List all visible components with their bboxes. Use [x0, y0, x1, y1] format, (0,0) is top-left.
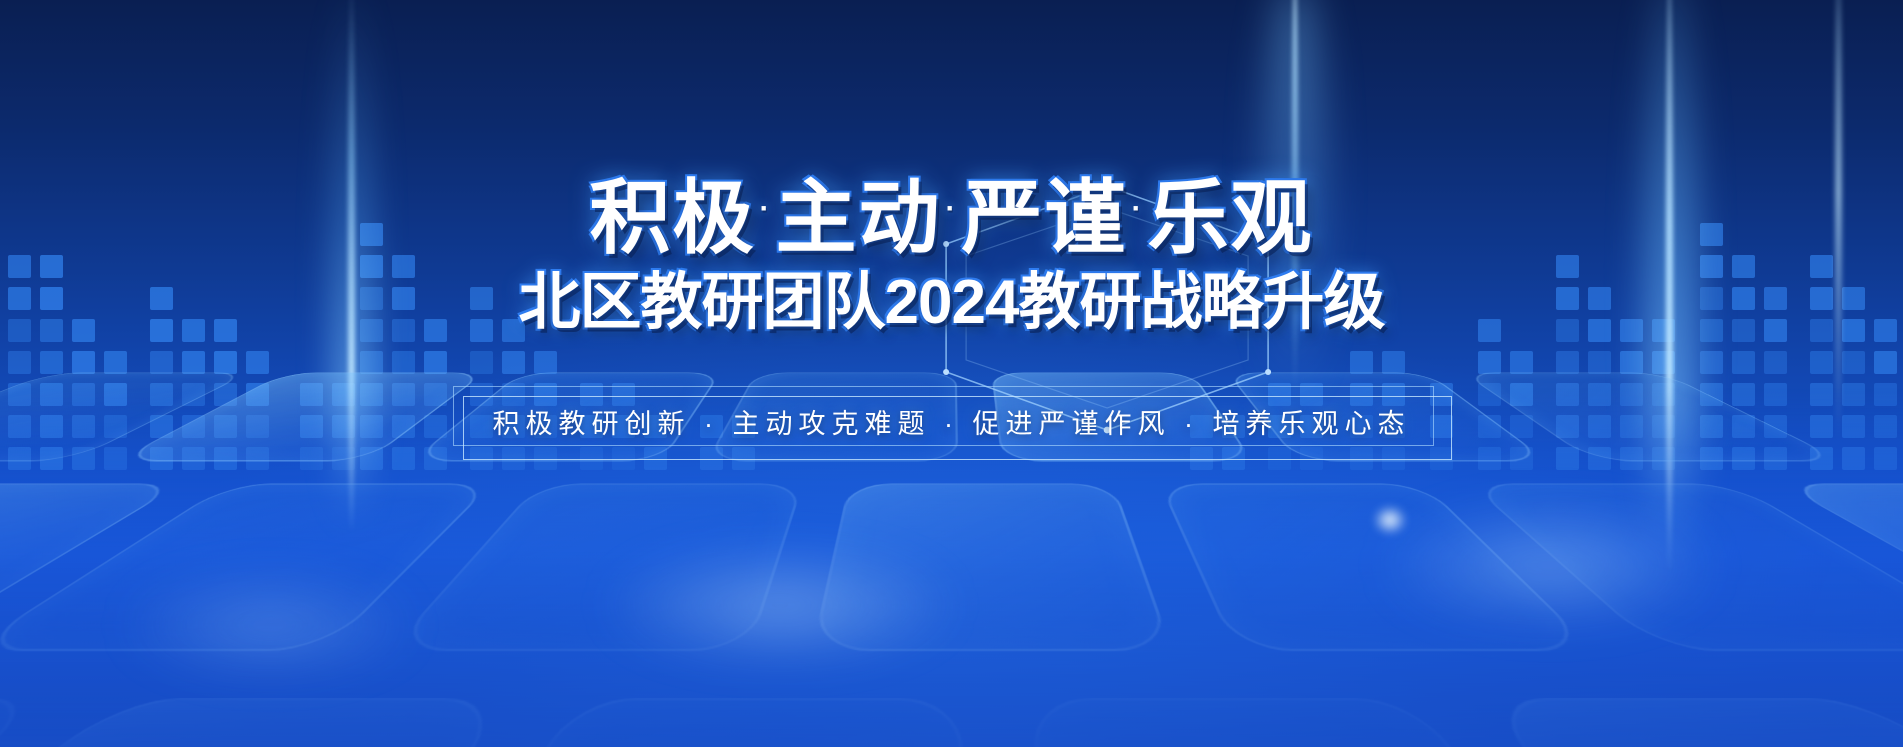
title-word-2: 主动	[775, 176, 941, 262]
title-separator-3: ·	[1128, 166, 1148, 252]
title-separator-2: ·	[942, 166, 962, 252]
banner-text-block: 积极 · 主动 · 严谨 · 乐观 北区教研团队2024教研战略升级 积极教研创…	[0, 0, 1903, 747]
banner-stage: 积极 · 主动 · 严谨 · 乐观 北区教研团队2024教研战略升级 积极教研创…	[0, 0, 1903, 747]
title-word-1: 积极	[589, 176, 755, 262]
banner-title: 积极 · 主动 · 严谨 · 乐观	[589, 176, 1313, 262]
title-word-4: 乐观	[1148, 176, 1314, 262]
title-word-3: 严谨	[962, 176, 1128, 262]
tagline-frame-group: 积极教研创新 · 主动攻克难题 · 促进严谨作风 · 培养乐观心态	[459, 393, 1445, 455]
title-separator-1: ·	[755, 166, 775, 252]
banner-tagline: 积极教研创新 · 主动攻克难题 · 促进严谨作风 · 培养乐观心态	[459, 393, 1445, 455]
banner-subtitle: 北区教研团队2024教研战略升级	[519, 268, 1385, 338]
